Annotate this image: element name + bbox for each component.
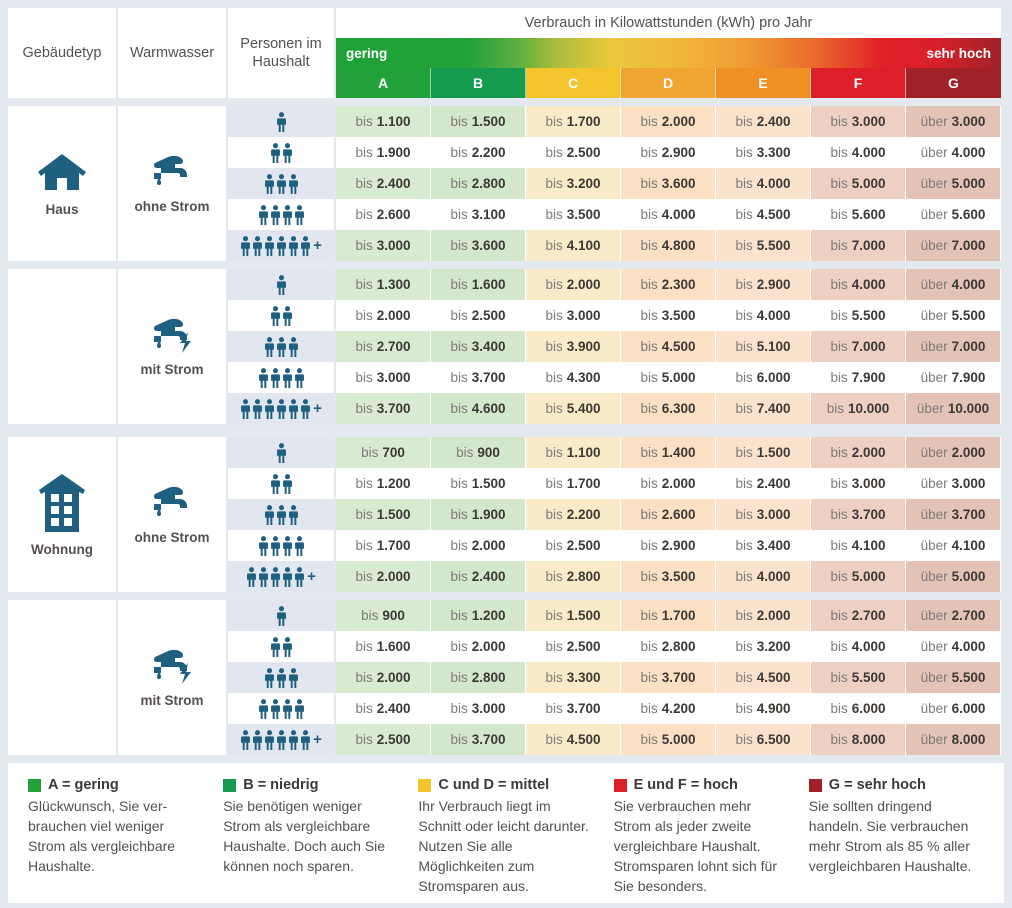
value-number: 5.000 (662, 732, 696, 747)
value-number: 5.000 (662, 370, 696, 385)
people-pictogram (276, 606, 287, 626)
value-prefix: über (921, 670, 948, 685)
legend-header: A = gering (28, 777, 203, 793)
value-number: 4.100 (852, 538, 886, 553)
value-prefix: bis (640, 608, 657, 623)
value-cell-g: über6.000 (906, 693, 1001, 724)
value-cell-g: über7.000 (906, 331, 1001, 362)
value-prefix: bis (355, 401, 372, 416)
value-number: 3.700 (567, 701, 601, 716)
value-number: 1.300 (377, 277, 411, 292)
legend-item-4: E und F = hochSie verbrauchen mehr Strom… (604, 777, 799, 896)
value-number: 3.000 (757, 507, 791, 522)
value-number: 4.000 (952, 639, 986, 654)
people-count-cell (228, 137, 336, 168)
people-pictogram (270, 306, 293, 326)
value-cell-a: bis700 (336, 437, 431, 468)
value-cell-c: bis4.300 (526, 362, 621, 393)
value-cell-g: über5.000 (906, 168, 1001, 199)
value-prefix: bis (355, 339, 372, 354)
value-number: 2.900 (662, 145, 696, 160)
value-cell-g: über4.000 (906, 137, 1001, 168)
people-count-cell (228, 437, 336, 468)
legend-text: Sie verbrauchen mehr Strom als jeder zwe… (614, 797, 789, 896)
energy-consumption-table: Gebäudetyp Warmwasser Personen im Hausha… (0, 0, 1012, 908)
value-number: 2.000 (952, 445, 986, 460)
value-number: 4.000 (757, 308, 791, 323)
value-prefix: über (921, 114, 948, 129)
value-number: 4.000 (852, 639, 886, 654)
value-prefix: über (921, 445, 948, 460)
value-cell-d: bis2.900 (621, 137, 716, 168)
people-pictogram (276, 275, 287, 295)
value-number: 4.000 (852, 145, 886, 160)
value-cell-a: bis3.000 (336, 362, 431, 393)
scale-label-high: sehr hoch (926, 46, 991, 61)
value-prefix: bis (450, 608, 467, 623)
value-cell-b: bis2.400 (431, 561, 526, 592)
value-cell-c: bis2.500 (526, 530, 621, 561)
grade-header-row: ABCDEFG (336, 68, 1001, 98)
value-prefix: bis (640, 277, 657, 292)
building-type-cell-continued (8, 600, 118, 755)
people-pictogram (240, 730, 311, 750)
header-people-line1: Personen im (240, 35, 321, 53)
value-prefix: bis (450, 476, 467, 491)
value-cell-f: bis7.000 (811, 230, 906, 261)
people-pictogram (270, 637, 293, 657)
value-number: 4.900 (757, 701, 791, 716)
value-prefix: bis (545, 238, 562, 253)
people-count-cell (228, 662, 336, 693)
value-cell-d: bis2.900 (621, 530, 716, 561)
value-number: 7.900 (852, 370, 886, 385)
value-prefix: bis (450, 308, 467, 323)
value-number: 1.200 (377, 476, 411, 491)
value-cell-c: bis3.300 (526, 662, 621, 693)
value-cell-f: bis4.000 (811, 137, 906, 168)
value-number: 4.000 (852, 277, 886, 292)
value-number: 2.400 (377, 176, 411, 191)
value-prefix: bis (545, 207, 562, 222)
value-number: 3.700 (377, 401, 411, 416)
value-number: 3.900 (567, 339, 601, 354)
value-number: 2.700 (952, 608, 986, 623)
value-cell-g: über5.000 (906, 561, 1001, 592)
grade-header-b: B (431, 68, 526, 98)
value-prefix: bis (640, 145, 657, 160)
value-prefix: bis (450, 176, 467, 191)
value-prefix: bis (735, 277, 752, 292)
value-number: 2.800 (567, 569, 601, 584)
value-number: 4.300 (567, 370, 601, 385)
value-number: 3.700 (472, 370, 506, 385)
value-prefix: bis (456, 445, 473, 460)
value-prefix: bis (830, 176, 847, 191)
faucet-bolt-icon (144, 316, 200, 356)
people-pictogram (270, 143, 293, 163)
value-number: 5.100 (757, 339, 791, 354)
value-number: 3.600 (662, 176, 696, 191)
value-cell-e: bis6.000 (716, 362, 811, 393)
value-prefix: über (921, 476, 948, 491)
value-cell-e: bis2.000 (716, 600, 811, 631)
people-count-cell (228, 168, 336, 199)
value-cell-e: bis2.400 (716, 106, 811, 137)
value-cell-f: bis3.000 (811, 106, 906, 137)
value-prefix: bis (735, 114, 752, 129)
legend-text: Ihr Verbrauch liegt im Schnitt oder leic… (418, 797, 593, 896)
grade-header-d: D (621, 68, 716, 98)
value-number: 6.000 (952, 701, 986, 716)
value-cell-g: über3.700 (906, 499, 1001, 530)
legend-color-swatch (614, 779, 627, 792)
value-cell-d: bis6.300 (621, 393, 716, 424)
value-prefix: bis (545, 308, 562, 323)
value-number: 1.700 (662, 608, 696, 623)
value-cell-e: bis4.500 (716, 662, 811, 693)
people-pictogram (264, 505, 299, 525)
faucet-icon (144, 153, 200, 193)
value-cell-g: über4.100 (906, 530, 1001, 561)
people-count-cell (228, 269, 336, 300)
value-cell-b: bis2.000 (431, 530, 526, 561)
value-number: 1.600 (472, 277, 506, 292)
legend-color-swatch (418, 779, 431, 792)
value-number: 2.900 (757, 277, 791, 292)
value-cell-a: bis2.000 (336, 561, 431, 592)
value-cell-f: bis5.000 (811, 561, 906, 592)
value-prefix: bis (735, 207, 752, 222)
value-prefix: bis (735, 732, 752, 747)
value-prefix: bis (640, 401, 657, 416)
people-pictogram (258, 699, 305, 719)
legend-item-1: A = geringGlückwunsch, Sie ver­brauchen … (18, 777, 213, 896)
water-heating-label: mit Strom (140, 362, 203, 377)
value-cell-c: bis3.000 (526, 300, 621, 331)
value-number: 3.700 (952, 507, 986, 522)
people-count-cell (228, 331, 336, 362)
people-count-cell (228, 300, 336, 331)
value-cell-c: bis1.700 (526, 468, 621, 499)
grade-header-g: G (906, 68, 1001, 98)
value-prefix: bis (735, 401, 752, 416)
value-cell-c: bis3.900 (526, 331, 621, 362)
people-count-cell (228, 693, 336, 724)
legend-item-5: G = sehr hochSie sollten dringend handel… (799, 777, 994, 896)
value-cell-a: bis3.700 (336, 393, 431, 424)
value-prefix: bis (450, 701, 467, 716)
value-number: 2.000 (472, 639, 506, 654)
value-cell-b: bis3.700 (431, 724, 526, 755)
value-cell-d: bis2.300 (621, 269, 716, 300)
value-prefix: bis (830, 238, 847, 253)
legend-text: Sie sollten dringend handeln. Sie verbra… (809, 797, 984, 877)
value-cell-b: bis2.800 (431, 168, 526, 199)
value-prefix: bis (830, 507, 847, 522)
header-people-line2: Haushalt (240, 53, 321, 71)
legend-item-2: B = niedrigSie benötigen weniger Strom a… (213, 777, 408, 896)
value-number: 2.700 (377, 339, 411, 354)
value-cell-e: bis6.500 (716, 724, 811, 755)
people-pictogram (258, 205, 305, 225)
value-prefix: bis (640, 308, 657, 323)
value-prefix: bis (545, 538, 562, 553)
value-cell-e: bis3.000 (716, 499, 811, 530)
value-cell-d: bis3.500 (621, 561, 716, 592)
value-prefix: bis (545, 476, 562, 491)
value-prefix: bis (640, 569, 657, 584)
value-number: 3.700 (662, 670, 696, 685)
people-pictogram (240, 236, 311, 256)
value-cell-e: bis4.000 (716, 561, 811, 592)
water-heating-label: ohne Strom (134, 199, 209, 214)
value-cell-g: über8.000 (906, 724, 1001, 755)
value-cell-b: bis1.200 (431, 600, 526, 631)
value-cell-e: bis4.900 (716, 693, 811, 724)
value-number: 4.000 (757, 569, 791, 584)
apartment-icon (36, 472, 88, 534)
value-prefix: bis (640, 176, 657, 191)
value-cell-e: bis7.400 (716, 393, 811, 424)
value-prefix: bis (640, 639, 657, 654)
value-number: 5.500 (852, 670, 886, 685)
value-prefix: über (921, 277, 948, 292)
value-number: 2.200 (567, 507, 601, 522)
value-cell-c: bis1.100 (526, 437, 621, 468)
value-prefix: bis (545, 445, 562, 460)
value-prefix: bis (640, 538, 657, 553)
value-number: 4.500 (567, 732, 601, 747)
value-cell-b: bis2.800 (431, 662, 526, 693)
value-number: 2.800 (472, 176, 506, 191)
value-cell-f: bis8.000 (811, 724, 906, 755)
value-prefix: bis (830, 639, 847, 654)
people-pictogram (240, 399, 311, 419)
value-prefix: bis (735, 308, 752, 323)
value-cell-c: bis2.200 (526, 499, 621, 530)
value-prefix: bis (450, 277, 467, 292)
scale-header: Verbrauch in Kilowattstunden (kWh) pro J… (336, 8, 1001, 98)
grade-header-e: E (716, 68, 811, 98)
header-cell-people: Personen im Haushalt (228, 8, 336, 98)
value-prefix: bis (830, 569, 847, 584)
building-type-cell-continued (8, 269, 118, 424)
value-prefix: bis (735, 176, 752, 191)
value-prefix: über (921, 370, 948, 385)
value-prefix: bis (450, 538, 467, 553)
value-number: 6.500 (757, 732, 791, 747)
legend-color-swatch (223, 779, 236, 792)
value-number: 3.000 (567, 308, 601, 323)
value-number: 3.700 (852, 507, 886, 522)
value-cell-a: bis2.700 (336, 331, 431, 362)
value-cell-a: bis2.500 (336, 724, 431, 755)
value-number: 3.500 (662, 308, 696, 323)
block-wohnung-ohne-strom: Wohnungohne Strombis700bis900bis1.100bis… (8, 437, 1004, 592)
value-cell-c: bis5.400 (526, 393, 621, 424)
value-prefix: bis (640, 732, 657, 747)
value-number: 1.700 (567, 114, 601, 129)
value-number: 10.000 (948, 401, 989, 416)
block-gap (8, 592, 1004, 600)
value-prefix: bis (545, 277, 562, 292)
value-cell-d: bis4.500 (621, 331, 716, 362)
value-number: 6.300 (662, 401, 696, 416)
value-prefix: bis (450, 145, 467, 160)
value-cell-b: bis3.100 (431, 199, 526, 230)
value-prefix: bis (545, 670, 562, 685)
value-cell-c: bis4.500 (526, 724, 621, 755)
people-count-cell: + (228, 561, 336, 592)
value-number: 5.000 (852, 569, 886, 584)
value-prefix: bis (735, 507, 752, 522)
people-count-cell (228, 106, 336, 137)
value-number: 2.000 (852, 445, 886, 460)
value-number: 5.400 (567, 401, 601, 416)
value-number: 7.900 (952, 370, 986, 385)
faucet-icon (144, 484, 200, 524)
value-cell-b: bis900 (431, 437, 526, 468)
people-pictogram (264, 174, 299, 194)
value-prefix: bis (545, 507, 562, 522)
legend-text: Glückwunsch, Sie ver­brauchen viel wenig… (28, 797, 203, 877)
value-cell-d: bis4.200 (621, 693, 716, 724)
value-number: 5.000 (952, 176, 986, 191)
value-number: 4.000 (757, 176, 791, 191)
value-number: 5.500 (852, 308, 886, 323)
value-prefix: bis (355, 238, 372, 253)
value-cell-f: bis4.000 (811, 269, 906, 300)
value-prefix: über (917, 401, 944, 416)
value-cell-f: bis10.000 (811, 393, 906, 424)
value-number: 10.000 (848, 401, 889, 416)
value-cell-f: bis7.900 (811, 362, 906, 393)
value-number: 6.000 (852, 701, 886, 716)
value-number: 3.400 (472, 339, 506, 354)
value-cell-d: bis5.000 (621, 362, 716, 393)
value-prefix: bis (735, 608, 752, 623)
legend-title: E und F = hoch (634, 777, 738, 793)
people-count-cell (228, 499, 336, 530)
building-type-cell: Haus (8, 106, 118, 261)
value-number: 4.000 (662, 207, 696, 222)
value-cell-c: bis1.700 (526, 106, 621, 137)
value-number: 2.000 (757, 608, 791, 623)
value-prefix: bis (830, 701, 847, 716)
value-prefix: bis (450, 569, 467, 584)
value-number: 2.400 (377, 701, 411, 716)
faucet-bolt-icon (144, 647, 200, 687)
value-cell-f: bis3.700 (811, 499, 906, 530)
value-prefix: bis (830, 732, 847, 747)
people-plus-sign: + (313, 238, 322, 253)
people-pictogram (258, 368, 305, 388)
value-number: 7.000 (852, 339, 886, 354)
block-wohnung-mit-strom: mit Strombis900bis1.200bis1.500bis1.700b… (8, 600, 1004, 755)
value-prefix: über (921, 238, 948, 253)
value-number: 2.000 (377, 308, 411, 323)
value-prefix: bis (355, 732, 372, 747)
value-prefix: bis (830, 538, 847, 553)
value-prefix: bis (355, 308, 372, 323)
value-cell-a: bis1.900 (336, 137, 431, 168)
value-number: 3.000 (852, 476, 886, 491)
value-number: 2.500 (567, 538, 601, 553)
value-prefix: bis (735, 339, 752, 354)
value-number: 3.000 (952, 114, 986, 129)
value-cell-g: über7.900 (906, 362, 1001, 393)
value-number: 900 (382, 608, 405, 623)
value-number: 3.000 (852, 114, 886, 129)
value-prefix: bis (640, 507, 657, 522)
scale-title: Verbrauch in Kilowattstunden (kWh) pro J… (336, 8, 1001, 38)
value-cell-f: bis3.000 (811, 468, 906, 499)
value-prefix: bis (545, 639, 562, 654)
value-number: 2.000 (567, 277, 601, 292)
value-prefix: bis (735, 670, 752, 685)
water-heating-label: ohne Strom (134, 530, 209, 545)
legend-title: A = gering (48, 777, 119, 793)
block-haus-mit-strom: mit Strombis1.300bis1.600bis2.000bis2.30… (8, 269, 1004, 424)
value-prefix: bis (355, 176, 372, 191)
value-prefix: über (921, 569, 948, 584)
value-cell-g: über4.000 (906, 631, 1001, 662)
value-prefix: bis (545, 339, 562, 354)
table-header: Gebäudetyp Warmwasser Personen im Hausha… (8, 8, 1004, 98)
value-prefix: über (921, 639, 948, 654)
people-count-cell: + (228, 393, 336, 424)
value-cell-e: bis3.400 (716, 530, 811, 561)
value-prefix: bis (735, 569, 752, 584)
value-cell-f: bis4.000 (811, 631, 906, 662)
value-cell-a: bis1.300 (336, 269, 431, 300)
people-pictogram (264, 337, 299, 357)
value-prefix: bis (735, 476, 752, 491)
value-number: 3.400 (757, 538, 791, 553)
value-prefix: bis (640, 670, 657, 685)
value-cell-d: bis4.000 (621, 199, 716, 230)
value-prefix: bis (735, 238, 752, 253)
value-number: 5.500 (757, 238, 791, 253)
value-cell-g: über5.500 (906, 662, 1001, 693)
water-heating-cell-mit-strom: mit Strom (118, 600, 228, 755)
value-number: 4.100 (567, 238, 601, 253)
value-number: 4.000 (952, 277, 986, 292)
value-prefix: bis (450, 370, 467, 385)
value-cell-f: bis2.000 (811, 437, 906, 468)
value-cell-b: bis3.600 (431, 230, 526, 261)
value-cell-d: bis3.600 (621, 168, 716, 199)
value-number: 3.300 (757, 145, 791, 160)
value-number: 3.500 (662, 569, 696, 584)
value-prefix: bis (450, 114, 467, 129)
value-cell-b: bis1.900 (431, 499, 526, 530)
value-cell-c: bis4.100 (526, 230, 621, 261)
value-number: 3.300 (567, 670, 601, 685)
people-count-cell: + (228, 724, 336, 755)
table-body: Hausohne Strombis1.100bis1.500bis1.700bi… (8, 98, 1004, 755)
value-cell-a: bis1.200 (336, 468, 431, 499)
value-prefix: bis (545, 370, 562, 385)
value-cell-g: über2.700 (906, 600, 1001, 631)
value-prefix: bis (355, 670, 372, 685)
value-number: 4.500 (662, 339, 696, 354)
value-cell-c: bis2.500 (526, 137, 621, 168)
value-number: 1.700 (567, 476, 601, 491)
value-cell-a: bis900 (336, 600, 431, 631)
value-cell-b: bis1.600 (431, 269, 526, 300)
